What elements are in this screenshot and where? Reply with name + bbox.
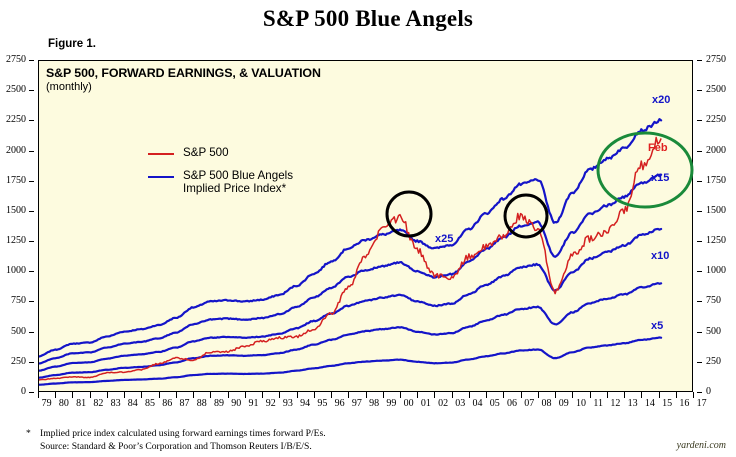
- curve-tag-x25: x25: [435, 233, 453, 245]
- curve-tag-x10: x10: [651, 250, 669, 262]
- curve-tag-x5: x5: [651, 320, 663, 332]
- footnote: * Implied price index calculated using f…: [26, 428, 526, 454]
- footnote-line-1: Implied price index calculated using for…: [40, 428, 526, 441]
- feb-marker-label: Feb: [648, 142, 668, 154]
- highlight-ellipse-feb: [598, 133, 692, 207]
- highlight-circle-2000: [387, 192, 431, 236]
- curve-tag-x20: x20: [652, 94, 670, 106]
- curve-x15: [38, 229, 661, 371]
- curve-x5: [38, 337, 661, 384]
- footnote-line-2: Source: Standard & Poor’s Corporation an…: [40, 441, 526, 454]
- watermark: yardeni.com: [677, 440, 726, 451]
- footnote-star: *: [26, 428, 31, 441]
- chart-curves: [0, 0, 736, 457]
- highlight-circle-2007: [505, 195, 547, 237]
- curve-tag-x15: x15: [651, 172, 669, 184]
